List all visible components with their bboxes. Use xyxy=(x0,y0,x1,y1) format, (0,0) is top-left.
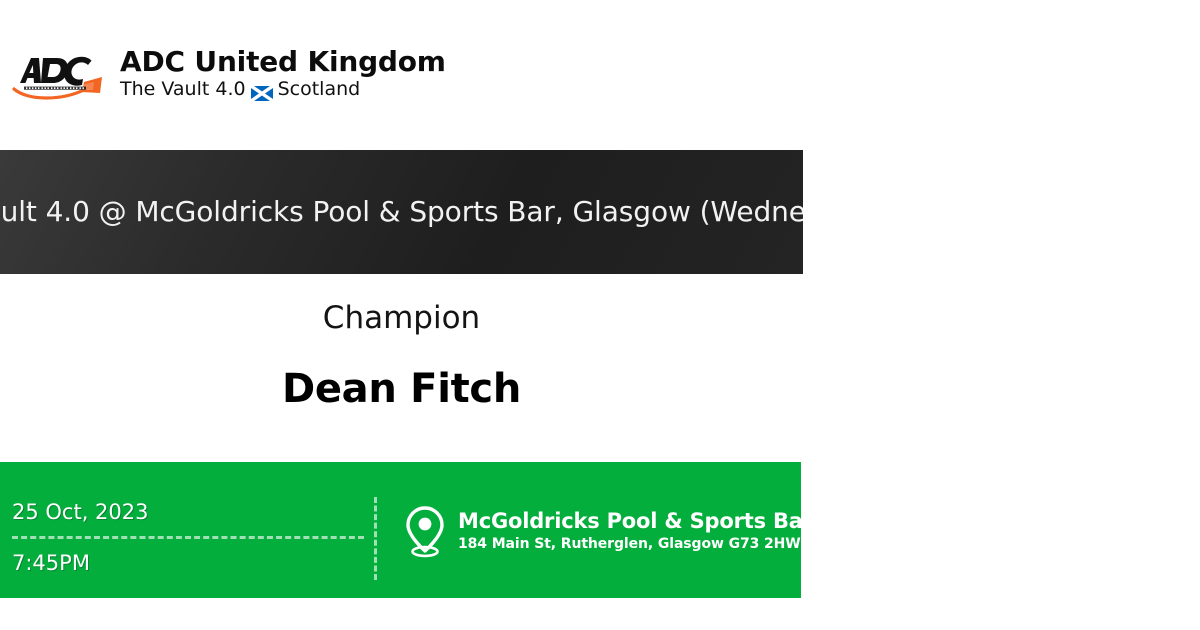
event-banner-title: The Vault 4.0 @ McGoldricks Pool & Sport… xyxy=(0,192,803,232)
poster-content-column: ADC United Kingdom The Vault 4.0 Scotlan… xyxy=(0,0,803,630)
event-footer: 25 Oct, 2023 7:45PM McGoldricks Pool & S… xyxy=(0,462,801,598)
venue-address: 184 Main St, Rutherglen, Glasgow G73 2HW xyxy=(458,535,813,553)
footer-datetime-block: 25 Oct, 2023 7:45PM xyxy=(12,502,364,574)
adc-logo-icon xyxy=(10,45,110,103)
map-pin-icon xyxy=(404,504,446,558)
champion-section: Champion Dean Fitch xyxy=(0,300,803,413)
event-date: 25 Oct, 2023 xyxy=(12,502,364,536)
venue-name: McGoldricks Pool & Sports Bar xyxy=(458,509,813,534)
scotland-flag-icon xyxy=(251,84,273,99)
champion-label: Champion xyxy=(0,300,803,337)
event-subtitle: The Vault 4.0 Scotland xyxy=(120,78,446,102)
event-banner: The Vault 4.0 @ McGoldricks Pool & Sport… xyxy=(0,150,803,274)
event-time: 7:45PM xyxy=(12,539,364,574)
header: ADC United Kingdom The Vault 4.0 Scotlan… xyxy=(0,38,803,110)
event-subtitle-suffix: Scotland xyxy=(278,78,361,102)
header-text-block: ADC United Kingdom The Vault 4.0 Scotlan… xyxy=(120,46,446,102)
footer-venue-block: McGoldricks Pool & Sports Bar 184 Main S… xyxy=(404,504,813,558)
venue-text-block: McGoldricks Pool & Sports Bar 184 Main S… xyxy=(458,509,813,554)
footer-vertical-dashed-divider xyxy=(374,497,377,580)
organisation-title: ADC United Kingdom xyxy=(120,46,446,77)
champion-name: Dean Fitch xyxy=(0,365,803,413)
event-subtitle-prefix: The Vault 4.0 xyxy=(120,78,246,102)
